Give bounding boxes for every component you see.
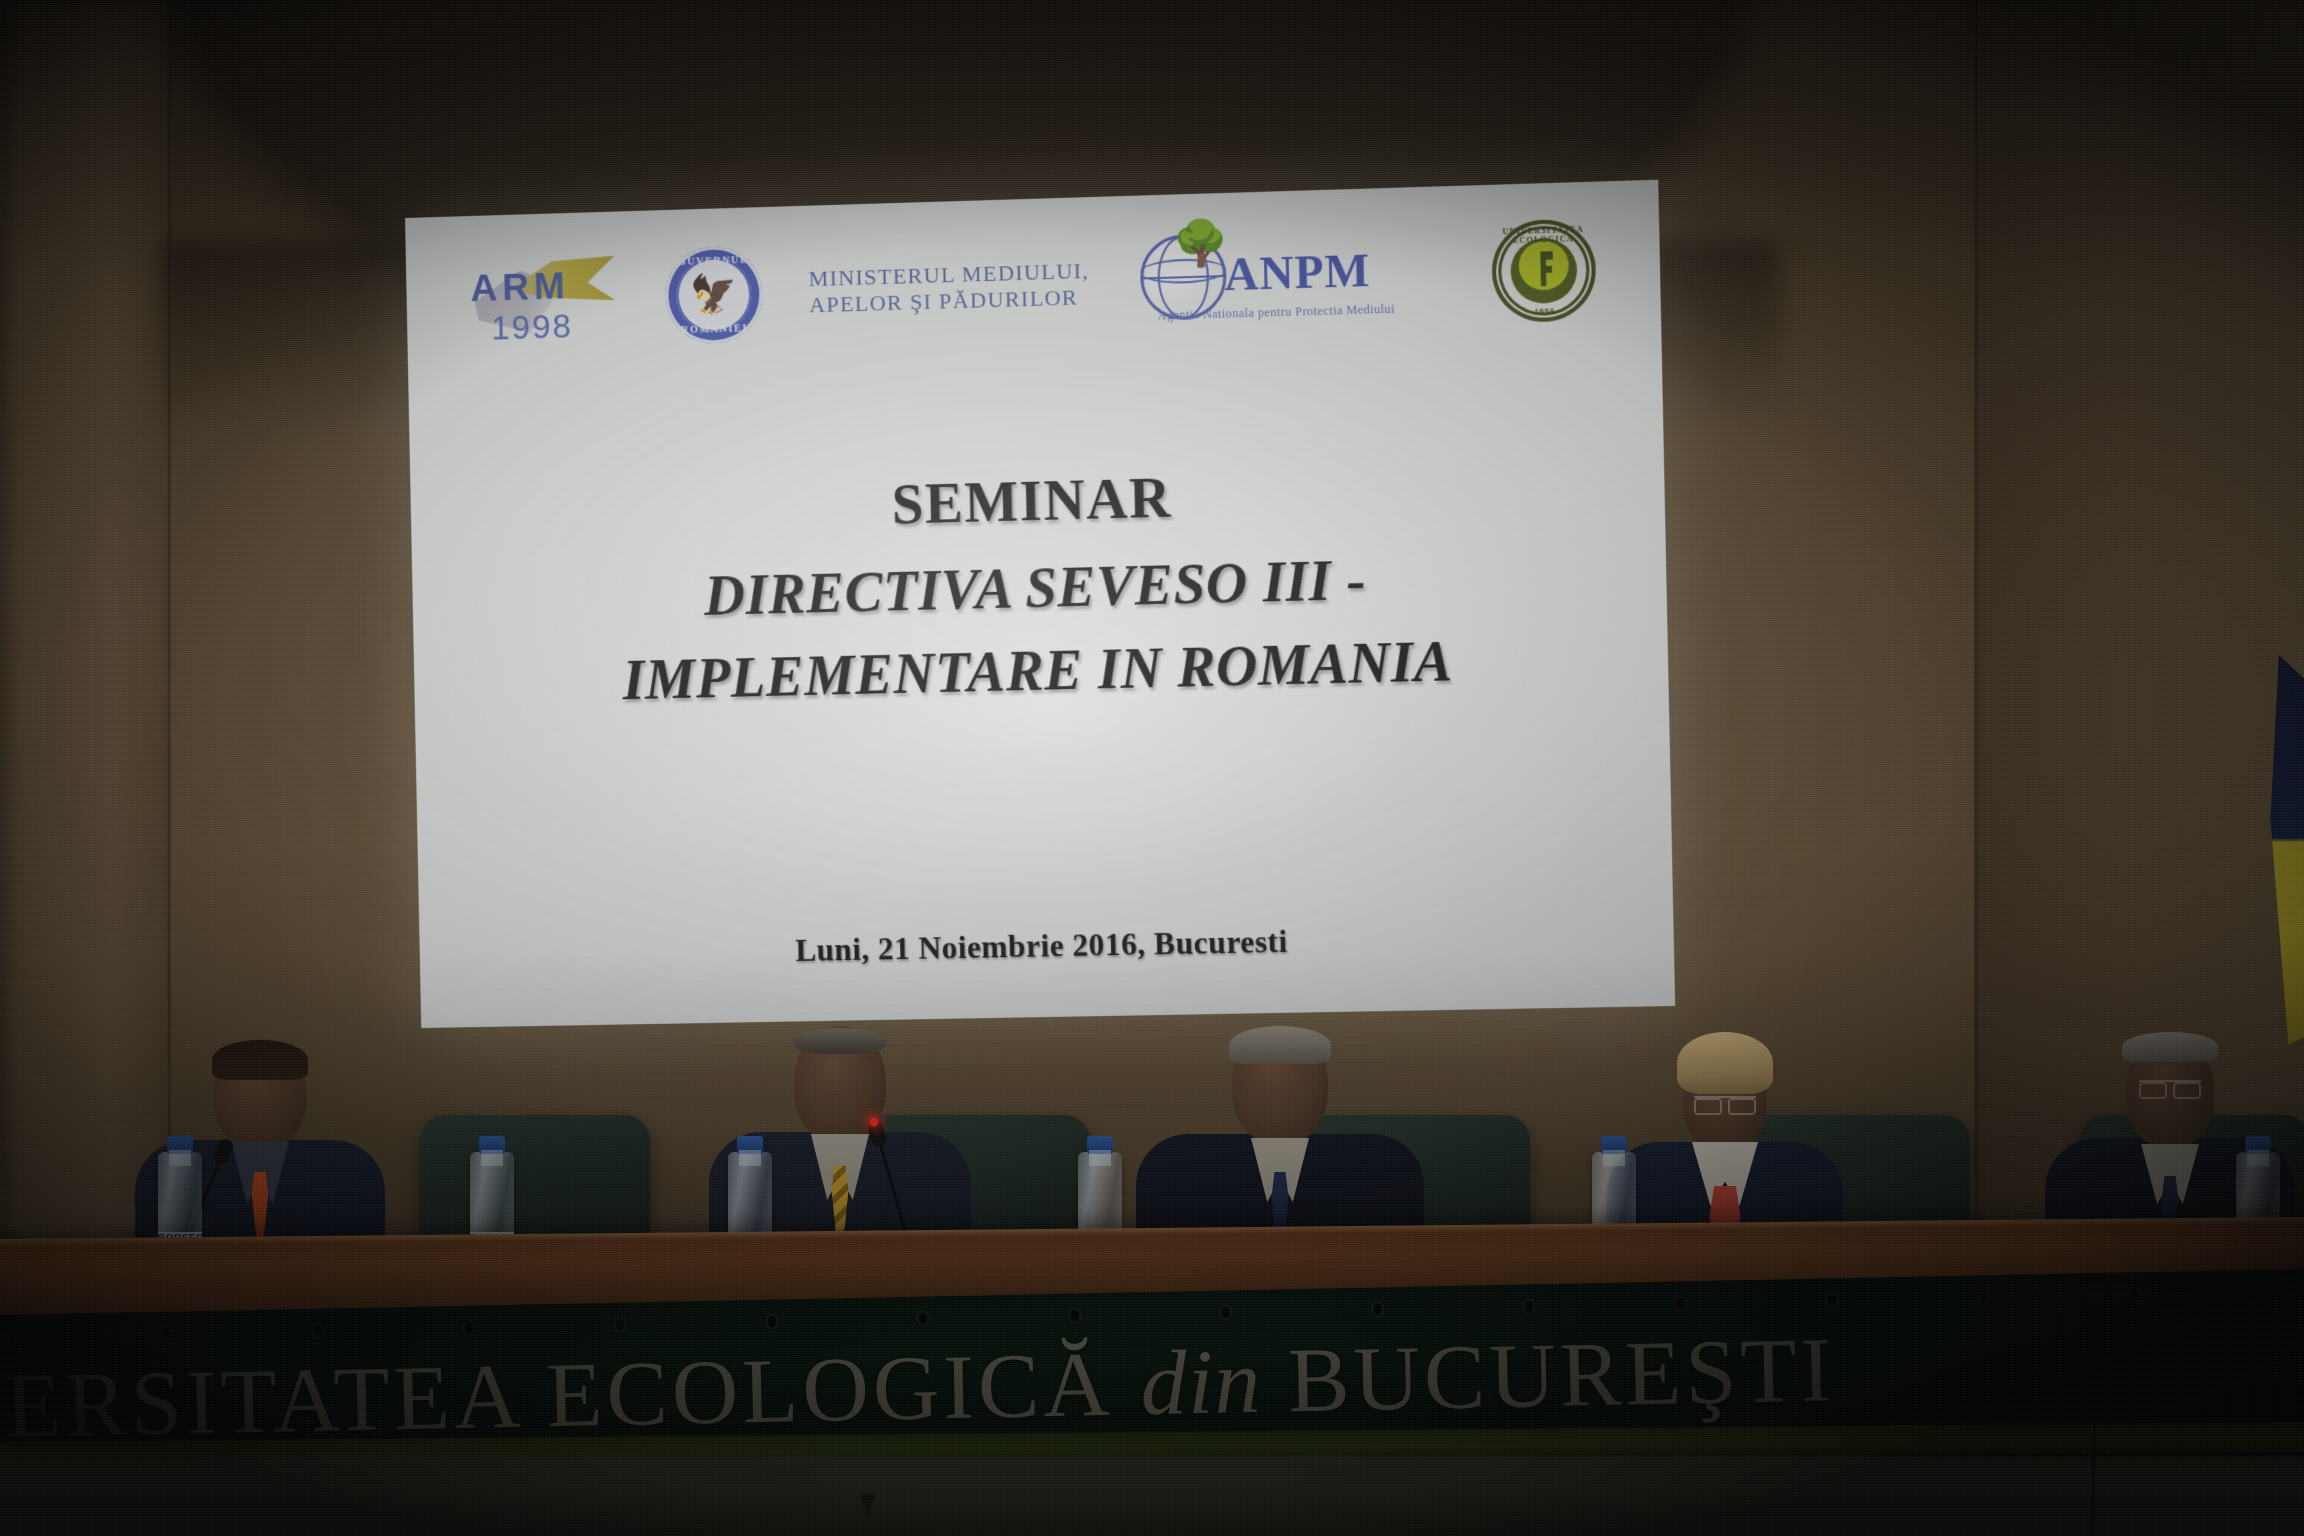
slide-title: SEMINAR DIRECTIVA SEVESO III - IMPLEMENT… <box>410 453 1668 718</box>
arm-logo-year: 1998 <box>491 307 573 347</box>
conference-room-photo: ARM 1998 GUVERNUL 🦅 ROMÂNIEI MINISTERUL … <box>0 0 2304 1536</box>
grommet <box>1068 1307 1081 1323</box>
grommet <box>1674 1295 1687 1311</box>
grommet <box>1522 1298 1535 1314</box>
stage-front-panel <box>0 1456 2304 1536</box>
bottle-neck <box>169 1150 191 1166</box>
grommet <box>917 1310 930 1326</box>
panelist-4-glasses <box>1694 1096 1756 1112</box>
grommet <box>311 1323 324 1339</box>
grommet <box>159 1326 172 1342</box>
slide-title-line-1: SEMINAR <box>410 453 1665 550</box>
guvernul-romaniei-seal-bottom-text: ROMÂNIEI <box>666 323 763 337</box>
panelist-5-hair <box>2122 1032 2218 1062</box>
panelist-2-hair <box>793 1028 887 1054</box>
slide-date-line: Luni, 21 Noiembrie 2016, Bucuresti <box>419 916 1674 976</box>
grommet <box>765 1313 778 1329</box>
slide-title-line-3: IMPLEMENTARE IN ROMANIA <box>414 624 1669 718</box>
eagle-icon: 🦅 <box>690 275 739 315</box>
arm-logo: ARM 1998 <box>468 246 621 355</box>
grommet <box>1220 1304 1233 1320</box>
slide-title-line-2: DIRECTIVA SEVESO III - <box>412 541 1667 636</box>
grommet <box>462 1320 475 1336</box>
bottle-neck <box>481 1150 503 1166</box>
grommet <box>614 1317 627 1333</box>
seal-bottom-text: 1990 <box>1493 306 1597 318</box>
grommet <box>1371 1301 1384 1317</box>
grommet <box>2128 1286 2141 1302</box>
arm-logo-text: ARM <box>470 265 570 310</box>
banner-text-right: BUCUREŞTI <box>1287 1318 1836 1431</box>
bottle-neck <box>1089 1150 1111 1166</box>
anpm-acronym: ANPM <box>1224 243 1371 301</box>
panelist-5-glasses <box>2139 1080 2201 1096</box>
grommet <box>1825 1292 1838 1308</box>
universitatea-ecologica-seal: UNIVERSITATEA ECOLOGICĂ 1990 <box>1491 218 1597 323</box>
bottle-neck <box>2247 1150 2269 1166</box>
ministerul-mediului-wordmark: MINISTERUL MEDIULUI, APELOR ŞI PĂDURILOR <box>808 258 1090 319</box>
anpm-logo: 🌳 ANPM Agentia Nationala pentru Protecti… <box>1135 219 1445 338</box>
panelist-1-hair <box>212 1040 308 1080</box>
grommet <box>2280 1283 2293 1299</box>
grommet <box>8 1329 21 1345</box>
slide-logo-row: ARM 1998 GUVERNUL 🦅 ROMÂNIEI MINISTERUL … <box>406 206 1662 364</box>
grommet <box>1977 1289 1990 1305</box>
panelist-3-hair <box>1229 1026 1331 1064</box>
bottle-neck <box>1603 1150 1625 1166</box>
seal-top-text: UNIVERSITATEA ECOLOGICĂ <box>1491 224 1595 245</box>
bottle-neck <box>739 1150 761 1166</box>
guvernul-romaniei-seal: GUVERNUL 🦅 ROMÂNIEI <box>664 245 763 344</box>
tree-icon: 🌳 <box>1172 221 1229 267</box>
banner-text-italic: din <box>1140 1330 1263 1434</box>
panelist-4-hair <box>1677 1032 1773 1094</box>
projection-screen: ARM 1998 GUVERNUL 🦅 ROMÂNIEI MINISTERUL … <box>405 180 1675 1028</box>
